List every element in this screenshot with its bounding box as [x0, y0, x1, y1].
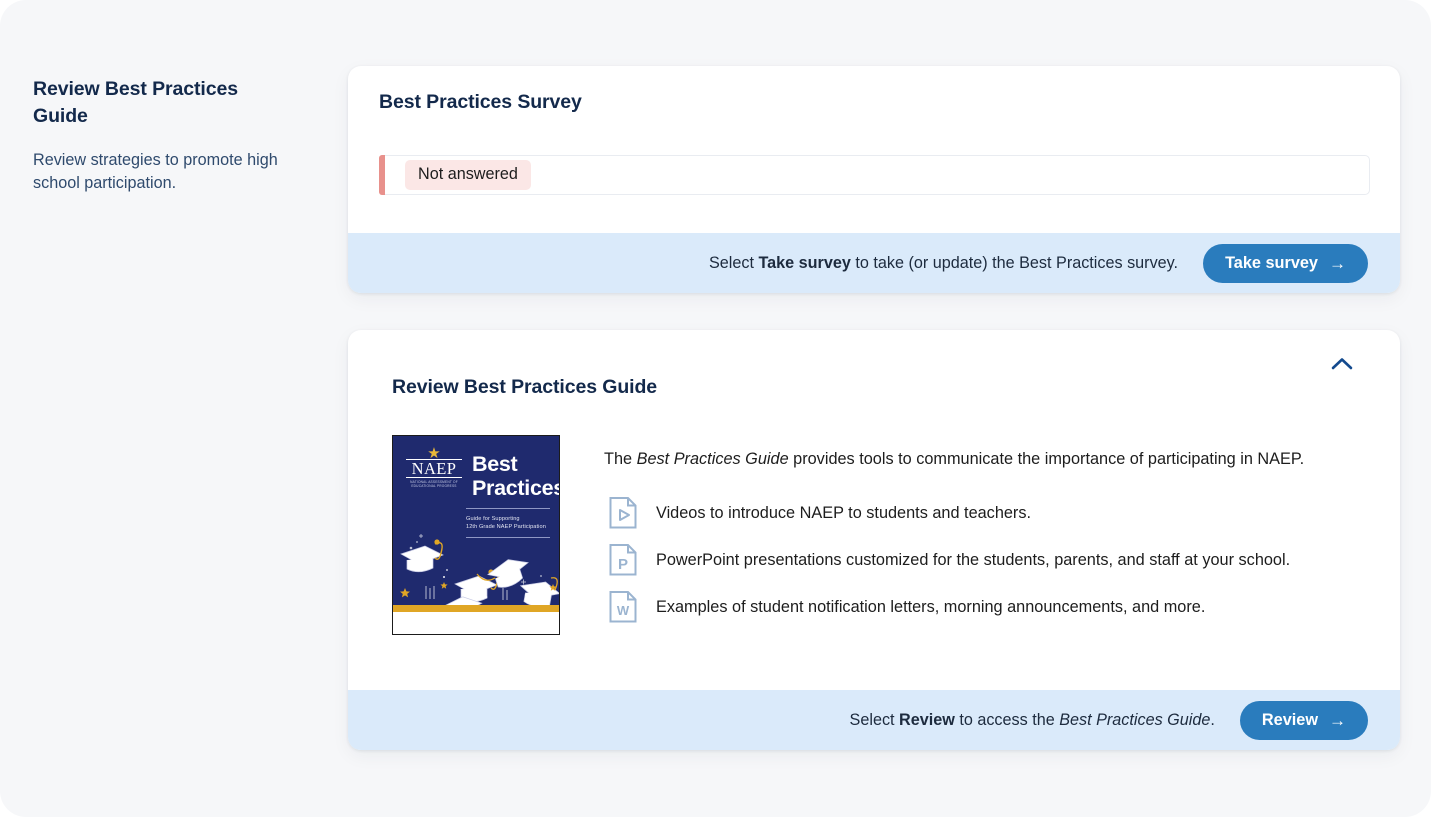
- review-button[interactable]: Review →: [1240, 701, 1368, 740]
- review-banner-italic: Best Practices Guide: [1059, 711, 1210, 729]
- word-document-icon: W: [608, 590, 638, 624]
- banner-prefix: Select: [709, 254, 759, 272]
- feature-label: Videos to introduce NAEP to students and…: [656, 502, 1031, 525]
- take-survey-banner: Select Take survey to take (or update) t…: [348, 233, 1400, 293]
- banner-bold: Take survey: [758, 254, 850, 272]
- cover-heading-line2: Practices: [472, 476, 560, 500]
- review-guide-banner: Select Review to access the Best Practic…: [348, 690, 1400, 750]
- page-description: Review strategies to promote high school…: [33, 149, 283, 195]
- feature-item-videos: Videos to introduce NAEP to students and…: [608, 496, 1031, 530]
- cover-gold-band: [393, 605, 560, 612]
- star-icon: ★: [406, 448, 462, 459]
- review-banner-prefix: Select: [850, 711, 900, 729]
- sidebar: Review Best Practices Guide Review strat…: [33, 76, 283, 195]
- guide-intro-italic: Best Practices Guide: [637, 450, 789, 468]
- guide-card-title: Review Best Practices Guide: [392, 376, 657, 399]
- feature-item-powerpoint: P PowerPoint presentations customized fo…: [608, 543, 1290, 577]
- status-accent-bar: [379, 155, 385, 195]
- take-survey-button-label: Take survey: [1225, 254, 1318, 273]
- feature-label: Examples of student notification letters…: [656, 596, 1205, 619]
- arrow-right-icon: →: [1329, 255, 1346, 272]
- take-survey-banner-text: Select Take survey to take (or update) t…: [709, 254, 1178, 273]
- review-banner-text: Select Review to access the Best Practic…: [850, 711, 1215, 730]
- best-practices-survey-card: Best Practices Survey Not answered Selec…: [348, 66, 1400, 293]
- review-banner-mid: to access the: [955, 711, 1059, 729]
- powerpoint-document-icon: P: [608, 543, 638, 577]
- review-banner-bold: Review: [899, 711, 955, 729]
- cover-subtitle-line2: 12th Grade NAEP Participation: [466, 523, 550, 531]
- status-badge: Not answered: [405, 160, 531, 189]
- review-banner-suffix: .: [1210, 711, 1215, 729]
- video-document-icon: [608, 496, 638, 530]
- survey-card-title: Best Practices Survey: [379, 91, 582, 114]
- cover-heading: Best Practices: [472, 452, 560, 500]
- guide-intro-suffix: provides tools to communicate the import…: [789, 450, 1305, 468]
- take-survey-button[interactable]: Take survey →: [1203, 244, 1368, 283]
- naep-logo: ★ NAEP NATIONAL ASSESSMENT OF EDUCATIONA…: [406, 448, 462, 488]
- review-button-label: Review: [1262, 711, 1318, 730]
- arrow-right-icon: →: [1329, 712, 1346, 729]
- survey-status-row: Not answered: [379, 155, 1370, 195]
- naep-logo-subtitle: NATIONAL ASSESSMENT OF EDUCATIONAL PROGR…: [406, 480, 462, 488]
- naep-logo-text: NAEP: [406, 459, 462, 478]
- collapse-section-button[interactable]: [1327, 348, 1357, 378]
- page-title: Review Best Practices Guide: [33, 76, 283, 130]
- page-root: Review Best Practices Guide Review strat…: [0, 0, 1431, 817]
- best-practices-guide-cover-image: ★ NAEP NATIONAL ASSESSMENT OF EDUCATIONA…: [392, 435, 560, 635]
- feature-label: PowerPoint presentations customized for …: [656, 549, 1290, 572]
- cover-heading-line1: Best: [472, 452, 560, 476]
- powerpoint-glyph: P: [618, 556, 628, 573]
- guide-intro-text: The Best Practices Guide provides tools …: [604, 448, 1324, 471]
- banner-suffix: to take (or update) the Best Practices s…: [851, 254, 1178, 272]
- chevron-up-icon: [1331, 357, 1353, 370]
- feature-item-word: W Examples of student notification lette…: [608, 590, 1205, 624]
- cover-subtitle-line1: Guide for Supporting: [466, 515, 550, 523]
- word-glyph: W: [617, 603, 630, 618]
- guide-intro-prefix: The: [604, 450, 637, 468]
- cover-white-band: [393, 612, 560, 634]
- cover-subtitle: Guide for Supporting 12th Grade NAEP Par…: [466, 508, 550, 538]
